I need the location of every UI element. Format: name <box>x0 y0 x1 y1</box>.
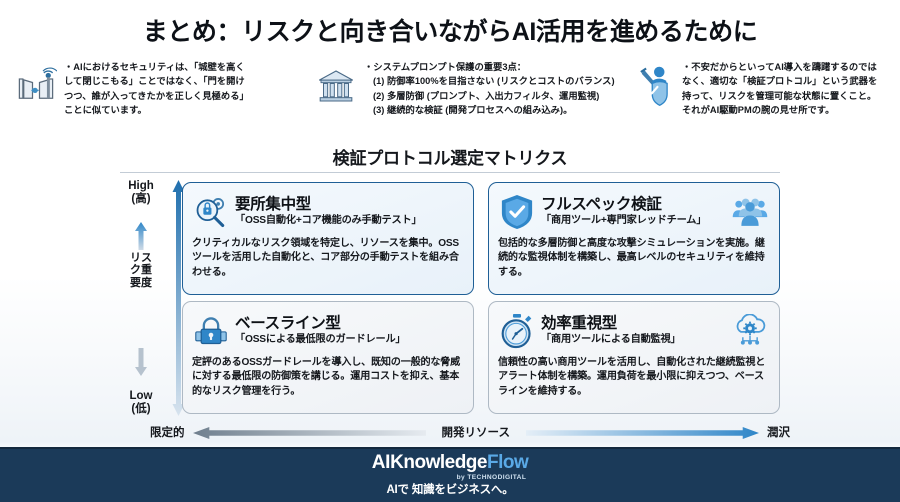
header-line: なく、適切な「検証プロトコル」という武器を <box>682 74 877 88</box>
y-axis-low-en: Low <box>112 390 170 403</box>
quadrant-card-efficiency[interactable]: 効率重視型 「商用ツールによる自動監視」 <box>488 301 780 414</box>
y-axis-high-label: High (高) <box>112 180 170 206</box>
card-header: 要所集中型 「OSS自動化+コア機能のみ手動テスト」 <box>192 190 464 234</box>
header-line: (3) 継続的な検証 (開発プロセスへの組み込み)。 <box>364 103 615 117</box>
quadrant-card-focused[interactable]: 要所集中型 「OSS自動化+コア機能のみ手動テスト」 クリティカルなリスク領域を… <box>182 182 474 295</box>
x-axis-right-arrow-icon <box>526 426 759 438</box>
card-title-block: フルスペック検証 「商用ツール+専門家レッドチーム」 <box>541 197 725 228</box>
header-line: ・システムプロンプト保護の重要3点： <box>364 60 615 74</box>
y-axis-down-arrow-icon <box>134 348 148 376</box>
header-text-security-analogy: ・AIにおけるセキュリティは、「城壁を高く して閉じこもる」ことではなく、「門を… <box>64 58 249 118</box>
quadrant-grid: 要所集中型 「OSS自動化+コア機能のみ手動テスト」 クリティカルなリスク領域を… <box>182 182 780 414</box>
matrix-title: 検証プロトコル選定マトリクス <box>0 144 900 169</box>
header-line: (2) 多層防御 (プロンプト、入出力フィルタ、運用監視) <box>364 89 615 103</box>
logo-ai: AI <box>372 452 390 474</box>
card-title: ベースライン型 <box>235 316 464 332</box>
shield-check-icon <box>498 193 536 231</box>
card-body: 定評のあるOSSガードレールを導入し、既知の一般的な脅威に対する最低限の防御策を… <box>192 356 464 399</box>
header-text-call-to-action: ・不安だからといってAI導入を躊躇するのでは なく、適切な「検証プロトコル」とい… <box>682 58 877 118</box>
card-body: 信頼性の高い商用ツールを活用し、自動化された継続監視とアラート体制を構築。運用負… <box>498 356 770 399</box>
card-header: フルスペック検証 「商用ツール+専門家レッドチーム」 <box>498 190 770 234</box>
header-line: して閉じこもる」ことではなく、「門を開け <box>64 74 249 88</box>
y-axis-up-arrow-icon <box>134 222 148 250</box>
header-line: 持って、リスクを管理可能な状態に置くこと。 <box>682 89 877 103</box>
header-text-three-points: ・システムプロンプト保護の重要3点： (1) 防御率100%を目指さない (リス… <box>364 58 615 118</box>
header-line: ・不安だからといってAI導入を躊躇するのでは <box>682 60 877 74</box>
y-axis-high-jp: (高) <box>112 193 170 206</box>
x-axis-left-label: 限定的 <box>150 424 185 440</box>
page-title: まとめ：リスクと向き合いながらAI活用を進めるために <box>0 12 900 48</box>
y-axis-low-label: Low (低) <box>112 390 170 416</box>
header-line: ・AIにおけるセキュリティは、「城壁を高く <box>64 60 249 74</box>
x-axis-center-label: 開発リソース <box>434 424 518 440</box>
card-title-block: ベースライン型 「OSSによる最低限のガードレール」 <box>235 316 464 347</box>
magnifier-lock-gear-icon <box>192 193 230 231</box>
matrix-divider <box>120 172 780 173</box>
card-header: ベースライン型 「OSSによる最低限のガードレール」 <box>192 309 464 353</box>
card-title: 効率重視型 <box>541 316 725 332</box>
cloud-gear-icon <box>730 312 770 350</box>
card-subtitle: 「OSS自動化+コア機能のみ手動テスト」 <box>235 215 464 227</box>
header-column-call-to-action: ・不安だからといってAI導入を躊躇するのでは なく、適切な「検証プロトコル」とい… <box>632 58 890 138</box>
card-subtitle: 「商用ツール+専門家レッドチーム」 <box>541 215 725 227</box>
card-title: フルスペック検証 <box>541 197 725 213</box>
footer-bar: AI Knowledge Flow by TECHNODIGITAL AIで 知… <box>0 447 900 502</box>
header-column-security-analogy: ・AIにおけるセキュリティは、「城壁を高く して閉じこもる」ことではなく、「門を… <box>14 58 314 138</box>
y-axis-high-en: High <box>112 180 170 193</box>
y-axis-label: リスク重要度 <box>130 252 152 289</box>
header-line: つつ、誰が入ってきたかを正しく見極める」 <box>64 89 249 103</box>
gate-sensor-icon <box>14 58 58 114</box>
classical-building-icon <box>314 58 358 114</box>
card-header: 効率重視型 「商用ツールによる自動監視」 <box>498 309 770 353</box>
card-body: 包括的な多層防御と高度な攻撃シミュレーションを実施。継続的な監視体制を構築し、最… <box>498 237 770 280</box>
footer-tagline: AIで 知識をビジネスへ。 <box>386 481 513 497</box>
quadrant-card-fullspec[interactable]: フルスペック検証 「商用ツール+専門家レッドチーム」 <box>488 182 780 295</box>
logo-byline: by TECHNODIGITAL <box>457 474 527 481</box>
card-title-block: 要所集中型 「OSS自動化+コア機能のみ手動テスト」 <box>235 197 464 228</box>
header-line: (1) 防御率100%を目指さない (リスクとコストのバランス) <box>364 74 615 88</box>
quadrant-card-baseline[interactable]: ベースライン型 「OSSによる最低限のガードレール」 定評のあるOSSガードレー… <box>182 301 474 414</box>
x-axis-left-arrow-icon <box>193 426 426 438</box>
header-summary-row: ・AIにおけるセキュリティは、「城壁を高く して閉じこもる」ことではなく、「門を… <box>14 58 890 138</box>
y-axis-low-jp: (低) <box>112 403 170 416</box>
y-axis-risk-importance: High (高) リスク重要度 Low (低) <box>106 180 176 416</box>
stopwatch-icon <box>498 312 536 350</box>
card-subtitle: 「OSSによる最低限のガードレール」 <box>235 334 464 346</box>
header-line: ことに似ています。 <box>64 103 249 117</box>
x-axis-right-label: 潤沢 <box>767 424 790 440</box>
header-column-three-points: ・システムプロンプト保護の重要3点： (1) 防御率100%を目指さない (リス… <box>314 58 632 138</box>
logo-flow: Flow <box>487 452 528 474</box>
footer-top-rule <box>0 447 900 449</box>
knight-shield-sword-icon <box>632 58 676 114</box>
card-body: クリティカルなリスク領域を特定し、リソースを集中。OSSツールを活用した自動化と… <box>192 237 464 280</box>
slide-root: まとめ：リスクと向き合いながらAI活用を進めるために <box>0 0 900 502</box>
padlock-icon <box>192 312 230 350</box>
brand-logo: AI Knowledge Flow by TECHNODIGITAL <box>372 452 529 474</box>
header-line: それがAI駆動PMの腕の見せ所です。 <box>682 103 877 117</box>
x-axis-dev-resource: 限定的 開発リソース 潤沢 <box>150 420 790 444</box>
people-group-icon <box>730 193 770 231</box>
logo-knowledge: Knowledge <box>390 452 487 474</box>
card-subtitle: 「商用ツールによる自動監視」 <box>541 334 725 346</box>
card-title-block: 効率重視型 「商用ツールによる自動監視」 <box>541 316 725 347</box>
card-title: 要所集中型 <box>235 197 464 213</box>
